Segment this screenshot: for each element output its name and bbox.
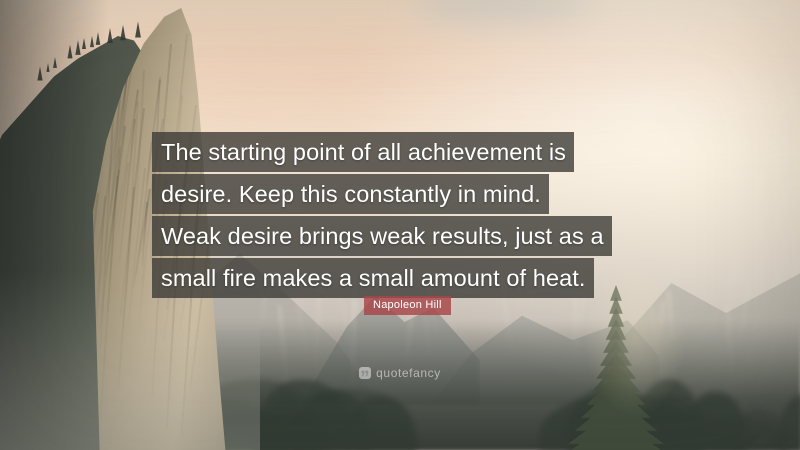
ridge-conifer [90,36,94,47]
ridge-conifer [96,32,101,45]
ridge-conifer [135,22,141,38]
pine-tier [560,419,672,450]
ridge-conifer [37,66,42,80]
author-attribution-badge: Napoleon Hill [364,296,451,315]
quote-text-block: The starting point of all achievement is… [152,132,672,300]
quote-image-canvas: The starting point of all achievement is… [0,0,800,450]
ridge-conifer [75,40,80,55]
ridge-conifer [107,28,112,43]
foreground-pine-tree [556,279,676,450]
quote-line: small fire makes a small amount of heat. [152,258,594,298]
ridge-conifer [53,57,57,68]
ridge-conifer [46,63,49,72]
quote-line: desire. Keep this constantly in mind. [152,174,549,214]
sky-blue-patch [416,0,592,20]
ridge-conifer [67,45,72,59]
quote-line: The starting point of all achievement is [152,132,574,172]
ridge-conifer [82,38,86,49]
ridge-conifer [120,25,126,41]
quote-line: Weak desire brings weak results, just as… [152,216,612,256]
